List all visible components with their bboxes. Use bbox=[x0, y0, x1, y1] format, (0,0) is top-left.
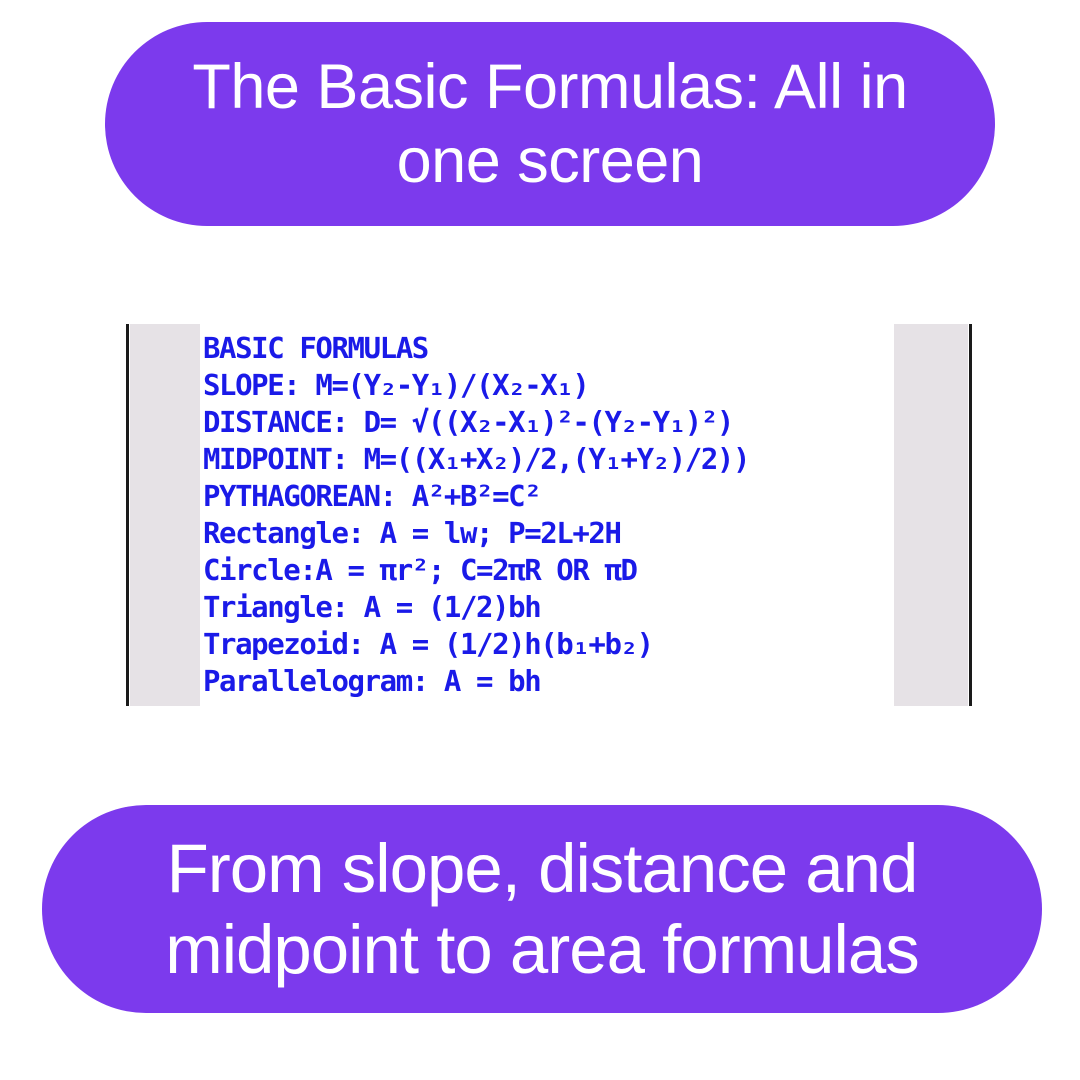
bottom-caption-banner: From slope, distance and midpoint to are… bbox=[42, 805, 1042, 1013]
formula-list: BASIC FORMULAS SLOPE: M=(Y₂-Y₁)/(X₂-X₁) … bbox=[203, 330, 892, 700]
top-title-text: The Basic Formulas: All in one screen bbox=[161, 50, 939, 199]
formula-line-heading: BASIC FORMULAS bbox=[203, 330, 892, 367]
screen-left-rule bbox=[126, 324, 129, 706]
bottom-caption-text: From slope, distance and midpoint to are… bbox=[88, 828, 996, 991]
formula-line-circle: Circle:A = πr²; C=2πR OR πD bbox=[203, 552, 892, 589]
formula-line-distance: DISTANCE: D= √((X₂-X₁)²-(Y₂-Y₁)²) bbox=[203, 404, 892, 441]
formula-line-slope: SLOPE: M=(Y₂-Y₁)/(X₂-X₁) bbox=[203, 367, 892, 404]
top-title-banner: The Basic Formulas: All in one screen bbox=[105, 22, 995, 226]
formula-line-pythagorean: PYTHAGOREAN: A²+B²=C² bbox=[203, 478, 892, 515]
screen-left-margin-band bbox=[130, 324, 200, 706]
formula-line-rectangle: Rectangle: A = lw; P=2L+2H bbox=[203, 515, 892, 552]
formula-line-trapezoid: Trapezoid: A = (1/2)h(b₁+b₂) bbox=[203, 626, 892, 663]
calculator-screen: BASIC FORMULAS SLOPE: M=(Y₂-Y₁)/(X₂-X₁) … bbox=[126, 324, 972, 706]
screen-right-margin-band bbox=[894, 324, 968, 706]
screen-right-rule bbox=[969, 324, 972, 706]
formula-line-triangle: Triangle: A = (1/2)bh bbox=[203, 589, 892, 626]
formula-line-midpoint: MIDPOINT: M=((X₁+X₂)/2,(Y₁+Y₂)/2)) bbox=[203, 441, 892, 478]
formula-line-parallelogram: Parallelogram: A = bh bbox=[203, 663, 892, 700]
page-root: The Basic Formulas: All in one screen BA… bbox=[0, 0, 1080, 1080]
